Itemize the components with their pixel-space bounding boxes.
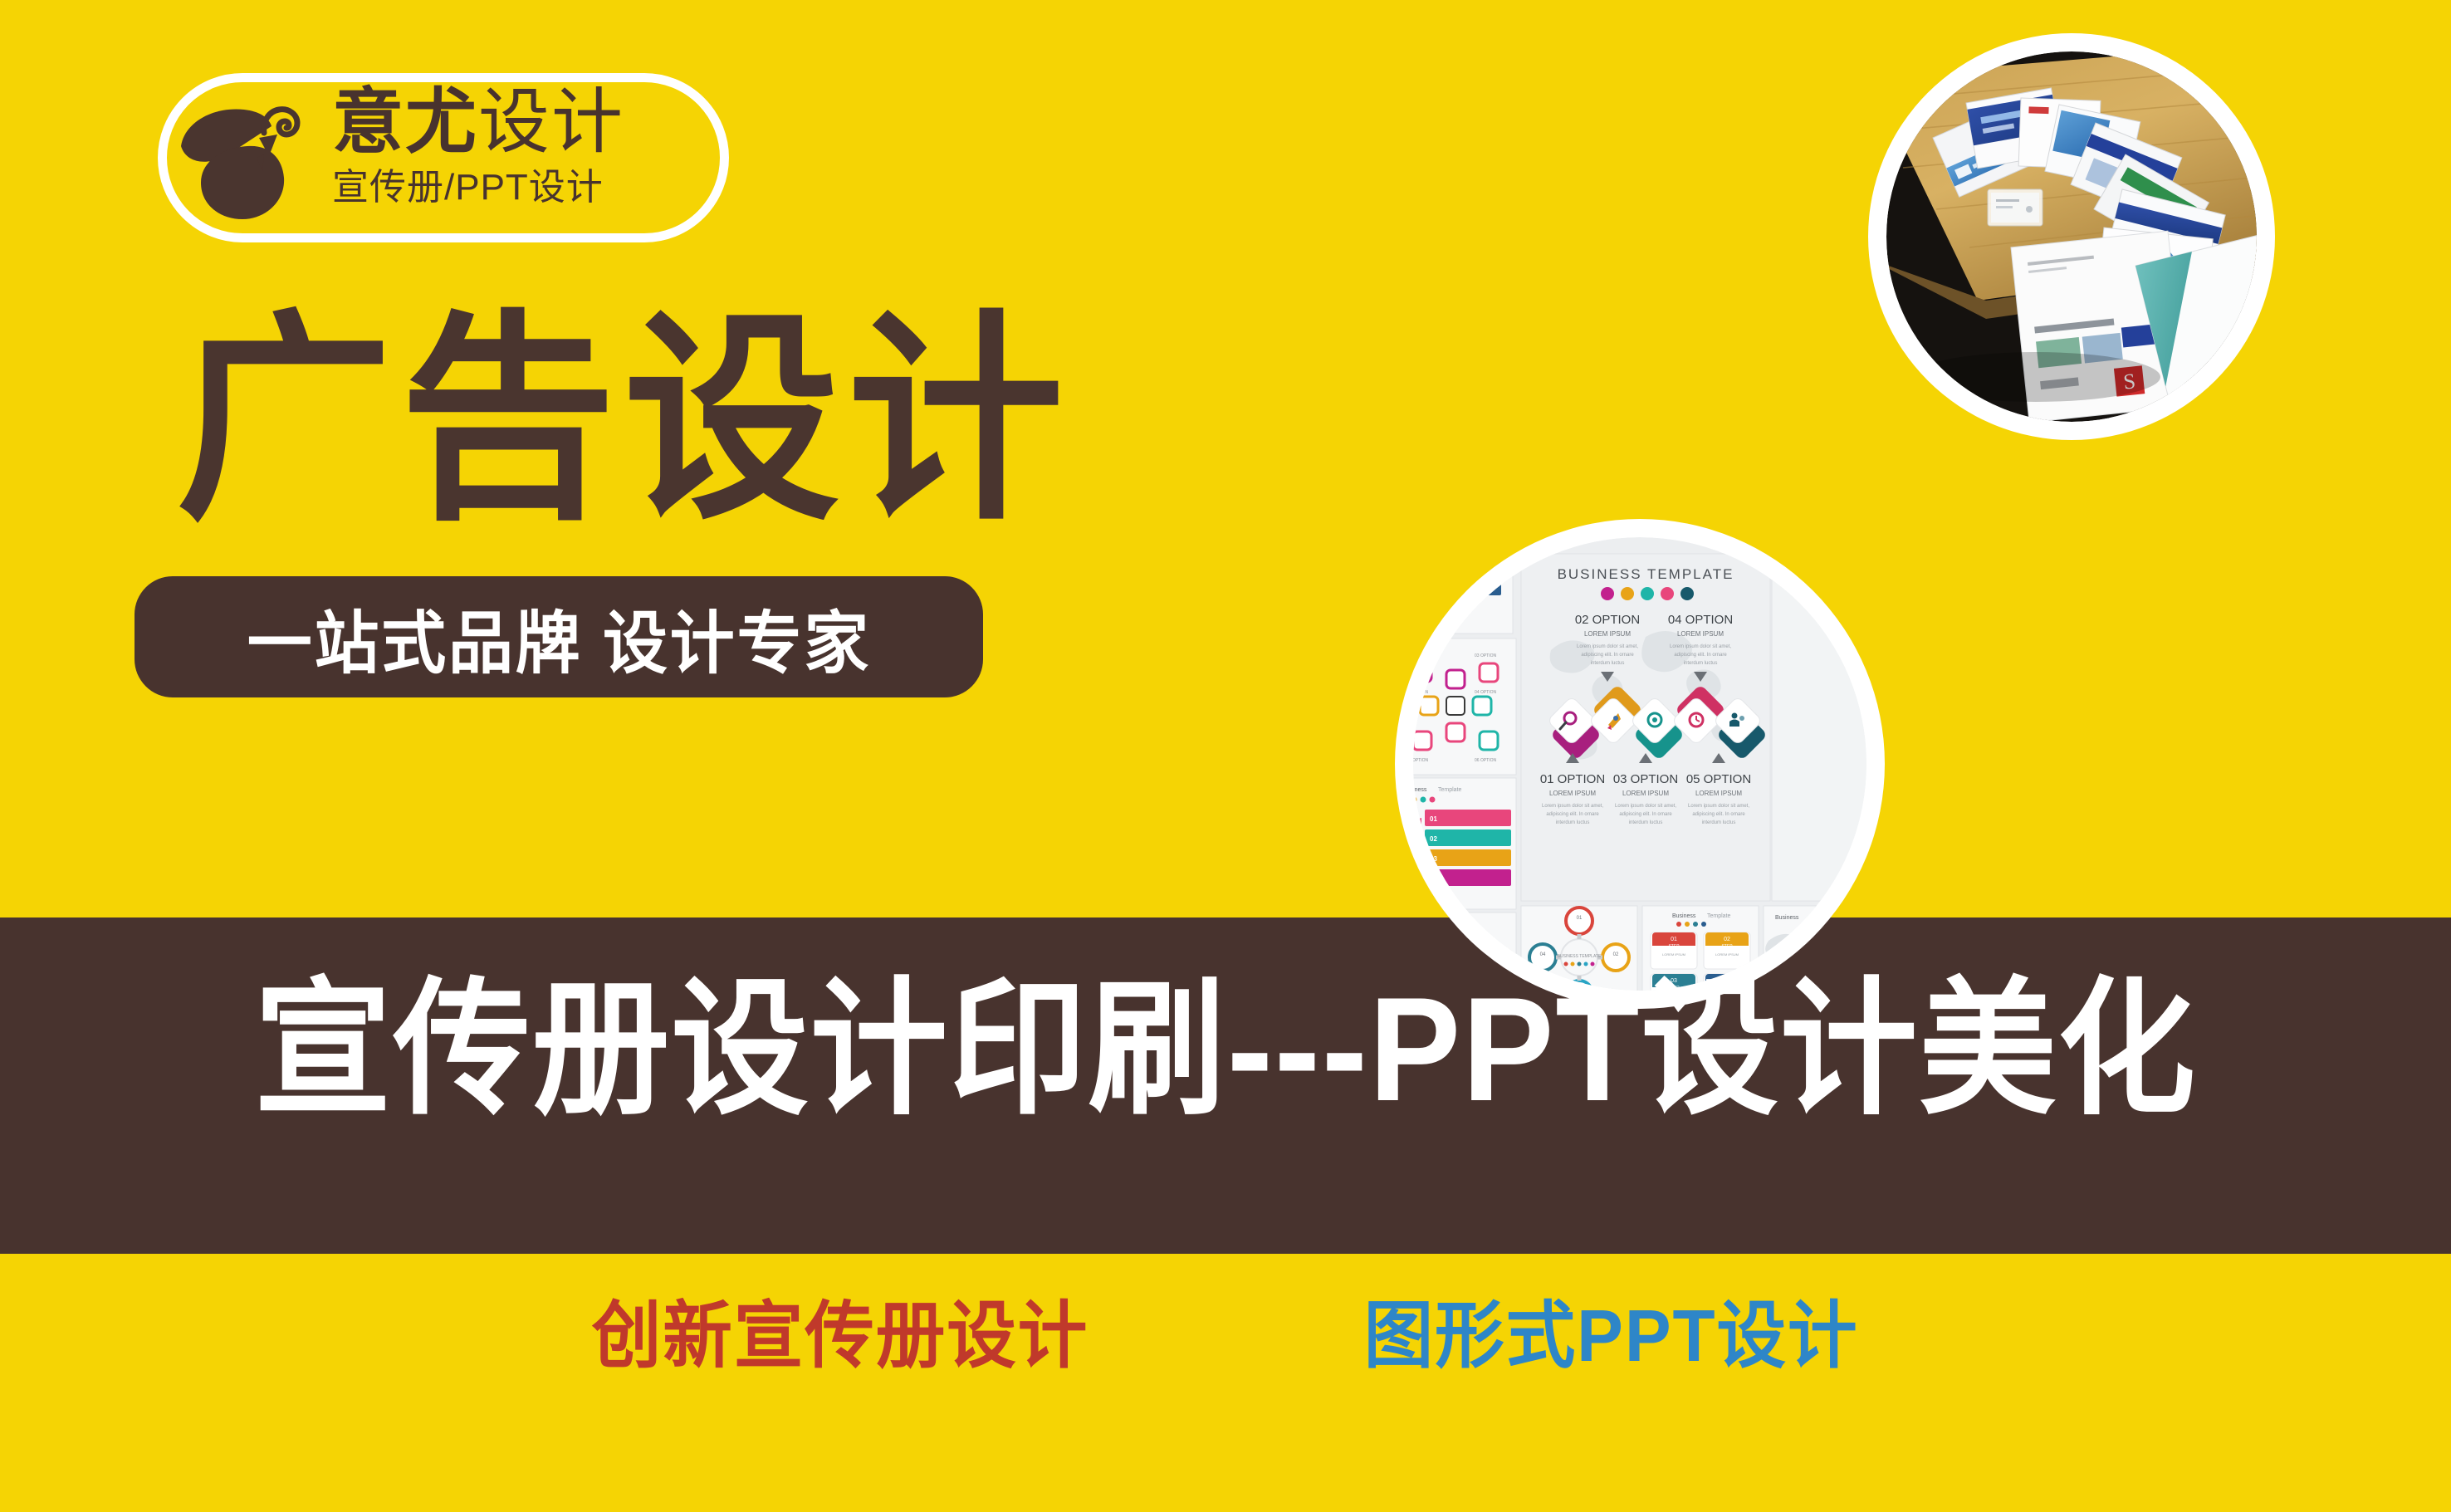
tagline-pill: 一站式品牌 设计专家 (135, 576, 983, 697)
svg-text:01 OPTION: 01 OPTION (1540, 772, 1605, 786)
svg-text:BUSINESS TEMPLATE: BUSINESS TEMPLATE (1558, 566, 1734, 582)
svg-text:02: 02 (1430, 835, 1437, 843)
svg-text:interdum luctus: interdum luctus (1684, 661, 1718, 666)
leaf-bird-mark-icon (176, 91, 317, 224)
svg-text:adipiscing elit. In ornare: adipiscing elit. In ornare (1581, 653, 1634, 658)
svg-text:adipiscing elit. In ornare: adipiscing elit. In ornare (1546, 812, 1599, 817)
svg-text:STEP: STEP (1668, 944, 1680, 949)
svg-text:LOREM IPSUM: LOREM IPSUM (1622, 790, 1669, 797)
svg-text:02 OPTION: 02 OPTION (1575, 613, 1640, 627)
logo-title-bold: 意尤 (332, 82, 478, 162)
svg-text:03 OPTION: 03 OPTION (1475, 653, 1497, 658)
svg-text:05 OPTION: 05 OPTION (1413, 758, 1429, 763)
svg-text:Template: Template (1438, 787, 1462, 793)
printed-brochures-medallion: S (1868, 33, 2275, 440)
svg-text:04: 04 (1540, 952, 1546, 957)
svg-text:Business: Business (1672, 913, 1696, 919)
svg-text:04: 04 (1430, 875, 1437, 883)
svg-text:LOREM IPSUM: LOREM IPSUM (1549, 790, 1596, 797)
svg-text:Lorem ipsum dolor sit amet,: Lorem ipsum dolor sit amet, (1615, 804, 1676, 809)
service-label-brochure: 创新宣传册设计 (592, 1299, 1089, 1373)
page-title: 广告设计 (176, 309, 1072, 531)
svg-text:02: 02 (1613, 952, 1619, 957)
banner-strip-text: 宣传册设计印刷---PPT设计美化 (86, 976, 2365, 1123)
ppt-templates-medallion: 01 OPTION03 OPTION 02 OPTION04 OPTION 05… (1395, 519, 1885, 1009)
svg-text:LOREM IPSUM: LOREM IPSUM (1695, 790, 1742, 797)
svg-text:Lorem ipsum dolor sit amet,: Lorem ipsum dolor sit amet, (1688, 804, 1749, 809)
svg-text:LOREM IPSUM: LOREM IPSUM (1662, 952, 1685, 957)
advertising-banner: 意尤设计 宣传册/PPT设计 广告设计 一站式品牌 设计专家 (0, 0, 2451, 1512)
tagline-text: 一站式品牌 设计专家 (247, 588, 870, 687)
svg-text:06 OPTION: 06 OPTION (1475, 758, 1497, 763)
svg-text:STEP: STEP (1721, 944, 1733, 949)
svg-text:04 OPTION: 04 OPTION (1475, 690, 1497, 695)
svg-text:adipiscing elit. In ornare: adipiscing elit. In ornare (1619, 812, 1672, 817)
svg-text:04 OPTION: 04 OPTION (1668, 613, 1733, 627)
svg-text:LOREM IPSUM: LOREM IPSUM (1584, 630, 1631, 638)
svg-text:interdum luctus: interdum luctus (1702, 820, 1736, 825)
svg-text:BUSINESS TEMPLATE: BUSINESS TEMPLATE (1558, 954, 1602, 959)
svg-text:02: 02 (1724, 937, 1730, 942)
logo-subtitle: 宣传册/PPT设计 (332, 169, 624, 206)
svg-text:Business: Business (1413, 787, 1427, 793)
svg-text:01: 01 (1430, 815, 1437, 823)
svg-text:Template: Template (1707, 913, 1731, 919)
bottom-service-labels: 创新宣传册设计 图形式PPT设计 (0, 1299, 2451, 1373)
ppt-template-sheets: 01 OPTION03 OPTION 02 OPTION04 OPTION 05… (1413, 537, 1866, 991)
svg-text:01: 01 (1577, 916, 1583, 921)
svg-text:LOREM IPSUM: LOREM IPSUM (1677, 630, 1724, 638)
brochure-photo: S (1886, 51, 2257, 422)
svg-text:Lorem ipsum dolor sit amet,: Lorem ipsum dolor sit amet, (1670, 644, 1731, 649)
svg-text:LOREM IPSUM: LOREM IPSUM (1715, 952, 1739, 957)
svg-text:01: 01 (1671, 937, 1677, 942)
svg-text:adipiscing elit. In ornare: adipiscing elit. In ornare (1692, 812, 1745, 817)
svg-text:Business: Business (1775, 915, 1799, 921)
logo-title: 意尤设计 (332, 86, 624, 158)
svg-text:Lorem ipsum dolor sit amet,: Lorem ipsum dolor sit amet, (1542, 804, 1603, 809)
svg-text:Lorem ipsum dolor sit amet,: Lorem ipsum dolor sit amet, (1577, 644, 1638, 649)
svg-text:03 OPTION: 03 OPTION (1613, 772, 1678, 786)
svg-text:interdum luctus: interdum luctus (1629, 820, 1663, 825)
svg-text:interdum luctus: interdum luctus (1591, 661, 1625, 666)
logo-text-lockup: 意尤设计 宣传册/PPT设计 (332, 86, 624, 206)
svg-text:03: 03 (1430, 855, 1437, 863)
svg-text:02 OPTION: 02 OPTION (1413, 690, 1429, 695)
logo-title-thin: 设计 (478, 82, 624, 162)
service-label-ppt: 图形式PPT设计 (1364, 1299, 1859, 1373)
svg-text:adipiscing elit. In ornare: adipiscing elit. In ornare (1674, 653, 1727, 658)
svg-text:interdum luctus: interdum luctus (1556, 820, 1590, 825)
svg-text:05 OPTION: 05 OPTION (1686, 772, 1751, 786)
